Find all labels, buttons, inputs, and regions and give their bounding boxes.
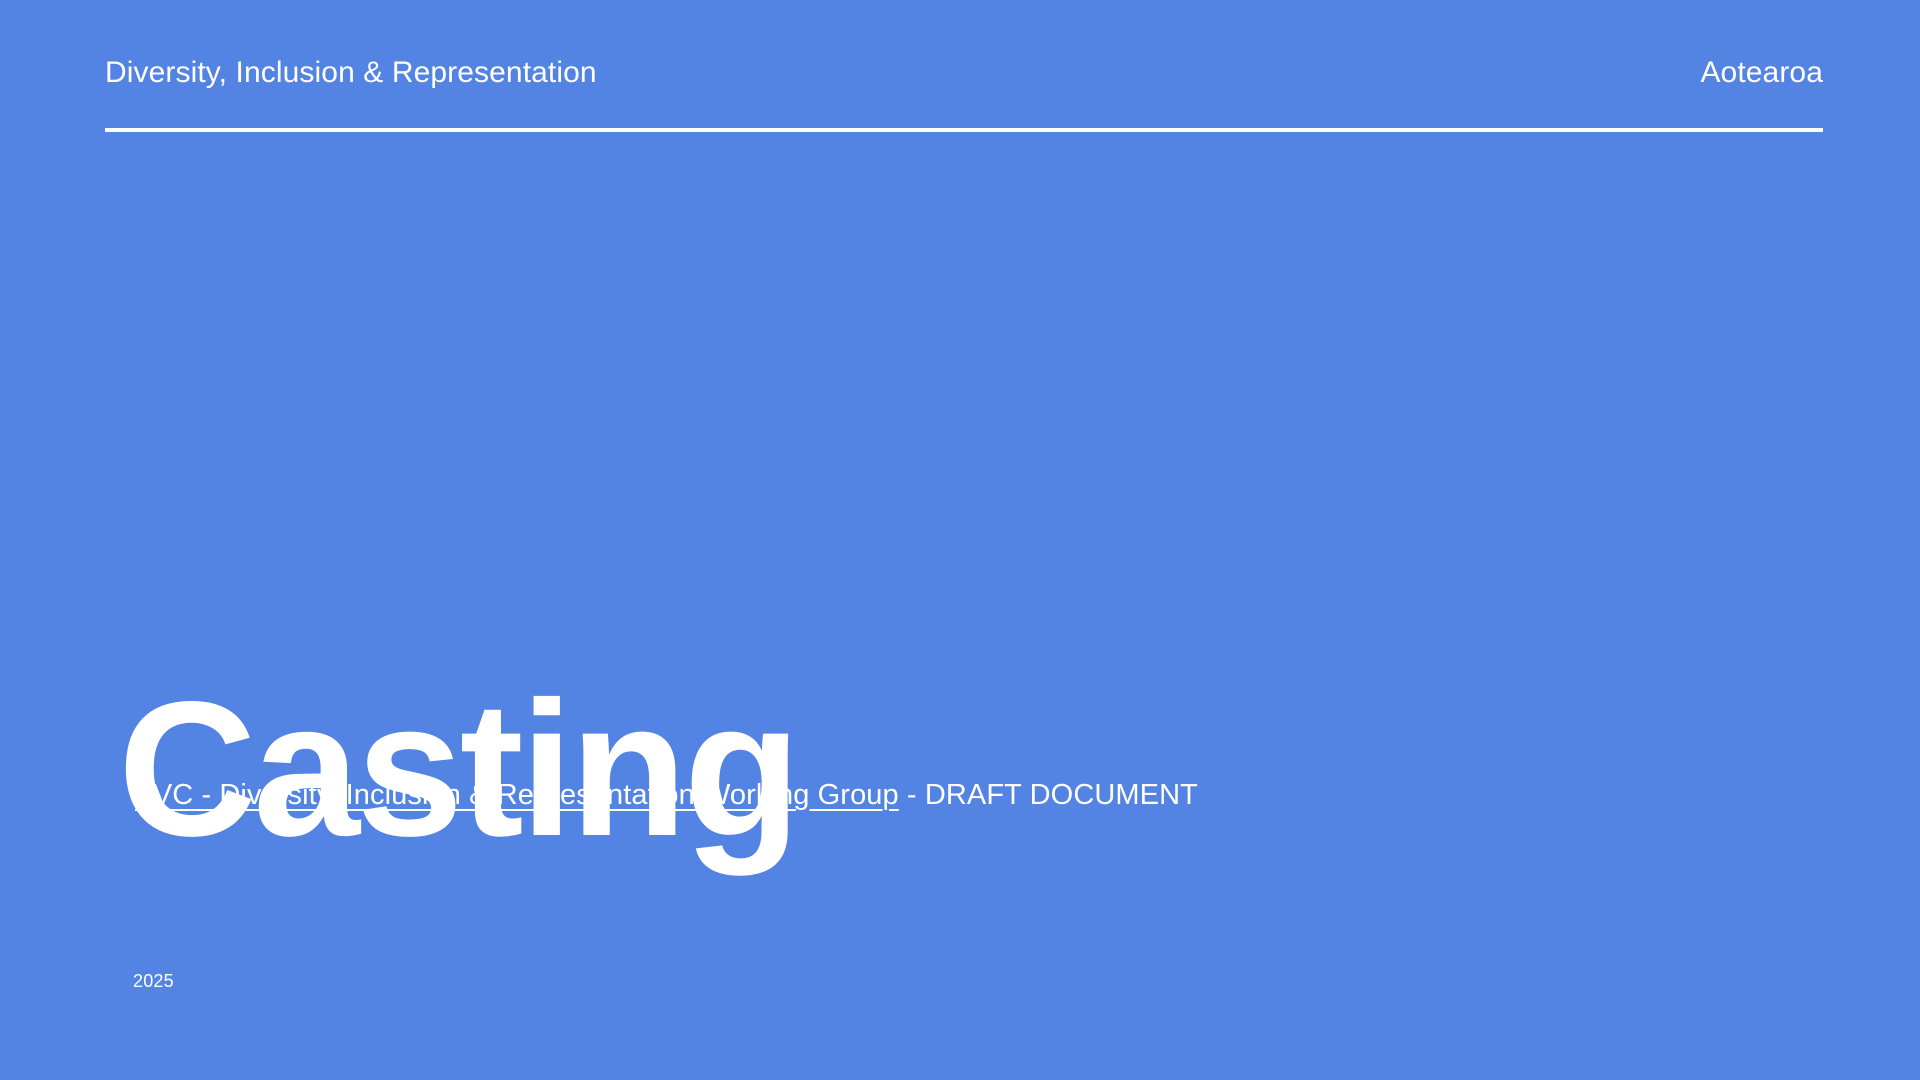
working-group-link[interactable]: TVC - Diversity, Inclusion & Representat… bbox=[135, 779, 899, 811]
footer-year: 2025 bbox=[133, 972, 174, 990]
page-title-line-1: Casting bbox=[118, 692, 1318, 846]
subtitle-separator: - bbox=[899, 779, 925, 811]
subtitle: TVC - Diversity, Inclusion & Representat… bbox=[135, 778, 1198, 813]
title-slide: Diversity, Inclusion & Representation Ao… bbox=[0, 0, 1920, 1080]
slide-header: Diversity, Inclusion & Representation Ao… bbox=[105, 58, 1823, 88]
header-section-label: Diversity, Inclusion & Representation bbox=[105, 58, 597, 88]
header-divider-rule bbox=[105, 128, 1823, 132]
header-region-label: Aotearoa bbox=[1700, 58, 1823, 88]
status-badge: DRAFT DOCUMENT bbox=[925, 779, 1198, 811]
page-title: Casting & Talent bbox=[118, 385, 1318, 1080]
